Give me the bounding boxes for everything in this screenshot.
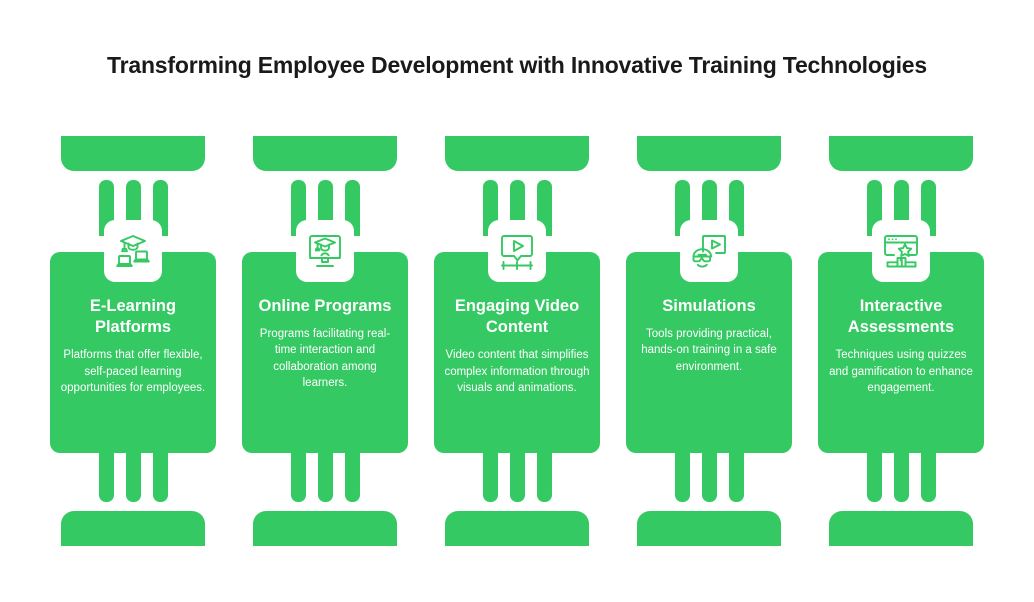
prong xyxy=(345,446,360,502)
card-description: Platforms that offer flexible, self-pace… xyxy=(59,347,207,396)
monitor-graduation-cap-icon xyxy=(305,231,345,271)
card-simulations: Simulations Tools providing practical, h… xyxy=(626,136,792,546)
card-bottom-prongs xyxy=(50,446,216,502)
prong xyxy=(537,446,552,502)
prong xyxy=(291,446,306,502)
card-title: Simulations xyxy=(635,296,783,317)
card-body: E-Learning Platforms Platforms that offe… xyxy=(50,252,216,453)
icon-badge xyxy=(488,220,546,282)
card-bottom-cap xyxy=(253,511,397,546)
card-description: Programs facilitating real-time interact… xyxy=(251,326,399,391)
card-description: Video content that simplifies complex in… xyxy=(443,347,591,396)
prong xyxy=(510,446,525,502)
card-top-cap xyxy=(253,136,397,171)
card-body: Interactive Assessments Techniques using… xyxy=(818,252,984,453)
card-title: Interactive Assessments xyxy=(827,296,975,338)
card-title: Online Programs xyxy=(251,296,399,317)
prong xyxy=(153,446,168,502)
prong xyxy=(921,446,936,502)
card-description: Tools providing practical, hands-on trai… xyxy=(635,326,783,375)
card-body: Simulations Tools providing practical, h… xyxy=(626,252,792,453)
icon-badge xyxy=(104,220,162,282)
browser-star-podium-icon xyxy=(881,231,921,271)
card-bottom-cap xyxy=(637,511,781,546)
card-title: Engaging Video Content xyxy=(443,296,591,338)
prong xyxy=(675,446,690,502)
icon-badge xyxy=(296,220,354,282)
prong xyxy=(318,446,333,502)
card-interactive-assessments: Interactive Assessments Techniques using… xyxy=(818,136,984,546)
cards-row: E-Learning Platforms Platforms that offe… xyxy=(50,136,984,546)
card-engaging-video-content: Engaging Video Content Video content tha… xyxy=(434,136,600,546)
prong xyxy=(729,446,744,502)
prong xyxy=(894,446,909,502)
card-bottom-prongs xyxy=(434,446,600,502)
card-bottom-prongs xyxy=(818,446,984,502)
graduation-cap-laptops-icon xyxy=(113,231,153,271)
card-top-cap xyxy=(445,136,589,171)
prong xyxy=(126,446,141,502)
card-bottom-cap xyxy=(445,511,589,546)
card-bottom-prongs xyxy=(626,446,792,502)
prong xyxy=(702,446,717,502)
card-e-learning-platforms: E-Learning Platforms Platforms that offe… xyxy=(50,136,216,546)
card-bottom-cap xyxy=(829,511,973,546)
card-bottom-prongs xyxy=(242,446,408,502)
prong xyxy=(483,446,498,502)
card-title: E-Learning Platforms xyxy=(59,296,207,338)
card-body: Online Programs Programs facilitating re… xyxy=(242,252,408,453)
video-play-bubble-icon xyxy=(497,231,537,271)
icon-badge xyxy=(680,220,738,282)
prong xyxy=(99,446,114,502)
card-description: Techniques using quizzes and gamificatio… xyxy=(827,347,975,396)
card-top-cap xyxy=(829,136,973,171)
prong xyxy=(867,446,882,502)
vr-headset-play-screen-icon xyxy=(689,231,729,271)
card-online-programs: Online Programs Programs facilitating re… xyxy=(242,136,408,546)
card-top-cap xyxy=(61,136,205,171)
card-top-cap xyxy=(637,136,781,171)
icon-badge xyxy=(872,220,930,282)
card-bottom-cap xyxy=(61,511,205,546)
page-title: Transforming Employee Development with I… xyxy=(0,52,1034,79)
card-body: Engaging Video Content Video content tha… xyxy=(434,252,600,453)
